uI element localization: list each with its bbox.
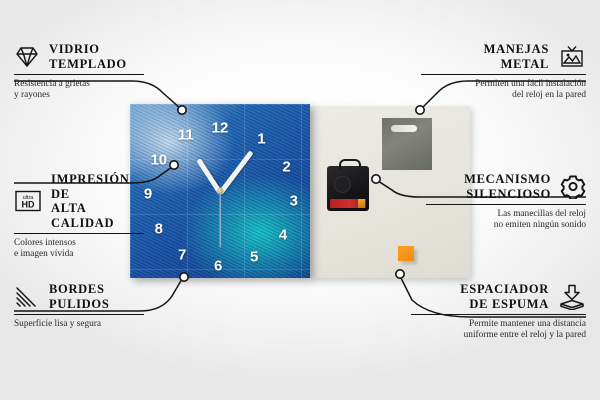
callout-description: Las manecillas del reloj no emiten ningú…: [426, 209, 586, 232]
product-image: 12 1 2 3 4 5 6 7 8 9 10 11: [130, 104, 470, 282]
callout-description: Colores intensos e imagen vívida: [14, 238, 144, 261]
glass-clock-face: 12 1 2 3 4 5 6 7 8 9 10 11: [130, 104, 310, 278]
callout-title: BORDES PULIDOS: [49, 282, 109, 311]
hanger-slot: [391, 125, 417, 132]
ultra-hd-icon: ultra HD: [14, 189, 42, 213]
foam-spacer-icon: [558, 284, 586, 310]
callout-rule: [14, 314, 144, 315]
clock-numeral: 5: [250, 249, 258, 266]
mechanism-hook: [339, 159, 361, 170]
ultra-hd-icon-main-text: HD: [22, 200, 35, 210]
mechanism-dial: [334, 176, 351, 193]
infographic-canvas: 12 1 2 3 4 5 6 7 8 9 10 11: [0, 0, 600, 400]
clock-numeral: 8: [155, 221, 163, 238]
callout-title: MECANISMO SILENCIOSO: [464, 172, 551, 201]
callout-description: Superficie lisa y segura: [14, 319, 144, 330]
callout-title: ESPACIADOR DE ESPUMA: [460, 282, 549, 311]
diamond-icon: [14, 45, 40, 69]
callout-rule: [14, 233, 144, 234]
foam-spacer-square: [398, 246, 414, 261]
callout-description: Permiten una fácil instalación del reloj…: [421, 79, 586, 102]
callout-rule: [421, 74, 586, 75]
callout-description: Permite mantener una distancia uniforme …: [411, 319, 586, 342]
clock-center-cap: [217, 188, 224, 195]
callout-mecanismo-silencioso: MECANISMO SILENCIOSO Las manecillas del …: [426, 172, 586, 232]
callout-rule: [426, 204, 586, 205]
wall-frame-hanger-icon: [558, 45, 586, 69]
clock-numeral: 11: [178, 127, 194, 144]
callout-espaciador-espuma: ESPACIADOR DE ESPUMA Permite mantener un…: [411, 282, 586, 342]
clock-numeral: 4: [279, 226, 287, 243]
callout-vidrio-templado: VIDRIO TEMPLADO Resistencia a grietas y …: [14, 42, 144, 102]
polished-edges-icon: [14, 285, 40, 309]
mechanism-chip: [358, 199, 365, 208]
gear-icon: [560, 174, 586, 199]
clock-numeral: 10: [150, 151, 167, 168]
callout-title: MANEJAS METAL: [484, 42, 549, 71]
callout-rule: [411, 314, 586, 315]
clock-numeral: 7: [178, 247, 186, 264]
callout-description: Resistencia a grietas y rayones: [14, 79, 144, 102]
clock-numeral: 1: [257, 130, 265, 147]
callout-rule: [14, 74, 144, 75]
clock-numeral: 12: [212, 120, 229, 137]
clock-numeral: 3: [290, 193, 298, 210]
clock-numeral: 6: [214, 257, 222, 274]
callout-title: VIDRIO TEMPLADO: [49, 42, 127, 71]
metal-hanger-plate: [382, 118, 432, 170]
clock-numeral: 9: [144, 186, 152, 203]
clock-numeral: 2: [282, 158, 290, 175]
callout-bordes-pulidos: BORDES PULIDOS Superficie lisa y segura: [14, 282, 144, 330]
clock-mechanism-box: [327, 166, 369, 211]
callout-manejas-metal: MANEJAS METAL Permiten una fácil instala…: [421, 42, 586, 102]
callout-impresion-alta-calidad: ultra HD IMPRESIÓN DE ALTA CALIDAD Color…: [14, 172, 144, 261]
clock-second-hand: [219, 192, 220, 248]
callout-title: IMPRESIÓN DE ALTA CALIDAD: [51, 172, 144, 230]
